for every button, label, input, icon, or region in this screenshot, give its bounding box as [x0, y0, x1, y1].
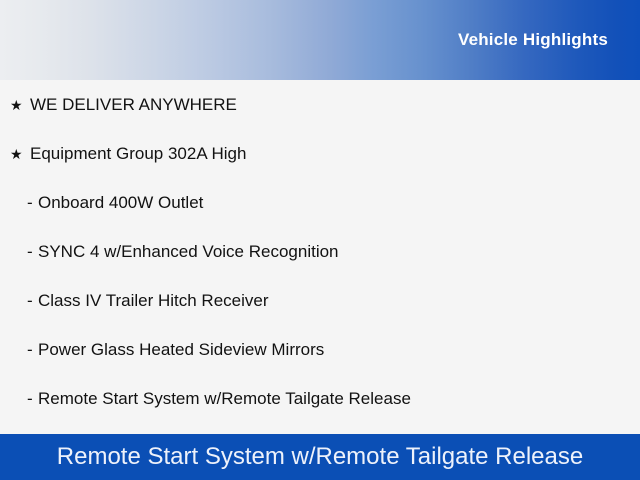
- list-item-label: Power Glass Heated Sideview Mirrors: [38, 325, 324, 374]
- list-item: -Remote Start System w/Remote Tailgate R…: [0, 374, 640, 423]
- list-item: -SYNC 4 w/Enhanced Voice Recognition: [0, 227, 640, 276]
- dash-bullet-icon: -: [27, 276, 38, 325]
- list-item: ★Equipment Group 302A High: [0, 129, 640, 178]
- list-item: -Power Glass Heated Sideview Mirrors: [0, 325, 640, 374]
- dash-bullet-icon: -: [27, 178, 38, 227]
- dash-bullet-icon: -: [27, 374, 38, 423]
- list-item: ★WE DELIVER ANYWHERE: [0, 80, 640, 129]
- list-item-label: Class IV Trailer Hitch Receiver: [38, 276, 269, 325]
- list-item-label: SYNC 4 w/Enhanced Voice Recognition: [38, 227, 339, 276]
- list-item: -Onboard 400W Outlet: [0, 178, 640, 227]
- dash-bullet-icon: -: [27, 325, 38, 374]
- list-item-label: WE DELIVER ANYWHERE: [30, 80, 237, 129]
- star-bullet-icon: ★: [10, 130, 30, 179]
- highlights-list: ★WE DELIVER ANYWHERE★Equipment Group 302…: [0, 80, 640, 434]
- footer-caption: Remote Start System w/Remote Tailgate Re…: [0, 434, 640, 480]
- page-title: Vehicle Highlights: [458, 30, 608, 50]
- list-item-label: Onboard 400W Outlet: [38, 178, 203, 227]
- list-item: -Class IV Trailer Hitch Receiver: [0, 276, 640, 325]
- vehicle-highlights-slide: Vehicle Highlights ★WE DELIVER ANYWHERE★…: [0, 0, 640, 480]
- footer-bar: Remote Start System w/Remote Tailgate Re…: [0, 434, 640, 480]
- star-bullet-icon: ★: [10, 81, 30, 130]
- list-item-label: Remote Start System w/Remote Tailgate Re…: [38, 374, 411, 423]
- dash-bullet-icon: -: [27, 227, 38, 276]
- list-item-label: Equipment Group 302A High: [30, 129, 246, 178]
- header-bar: Vehicle Highlights: [0, 0, 640, 80]
